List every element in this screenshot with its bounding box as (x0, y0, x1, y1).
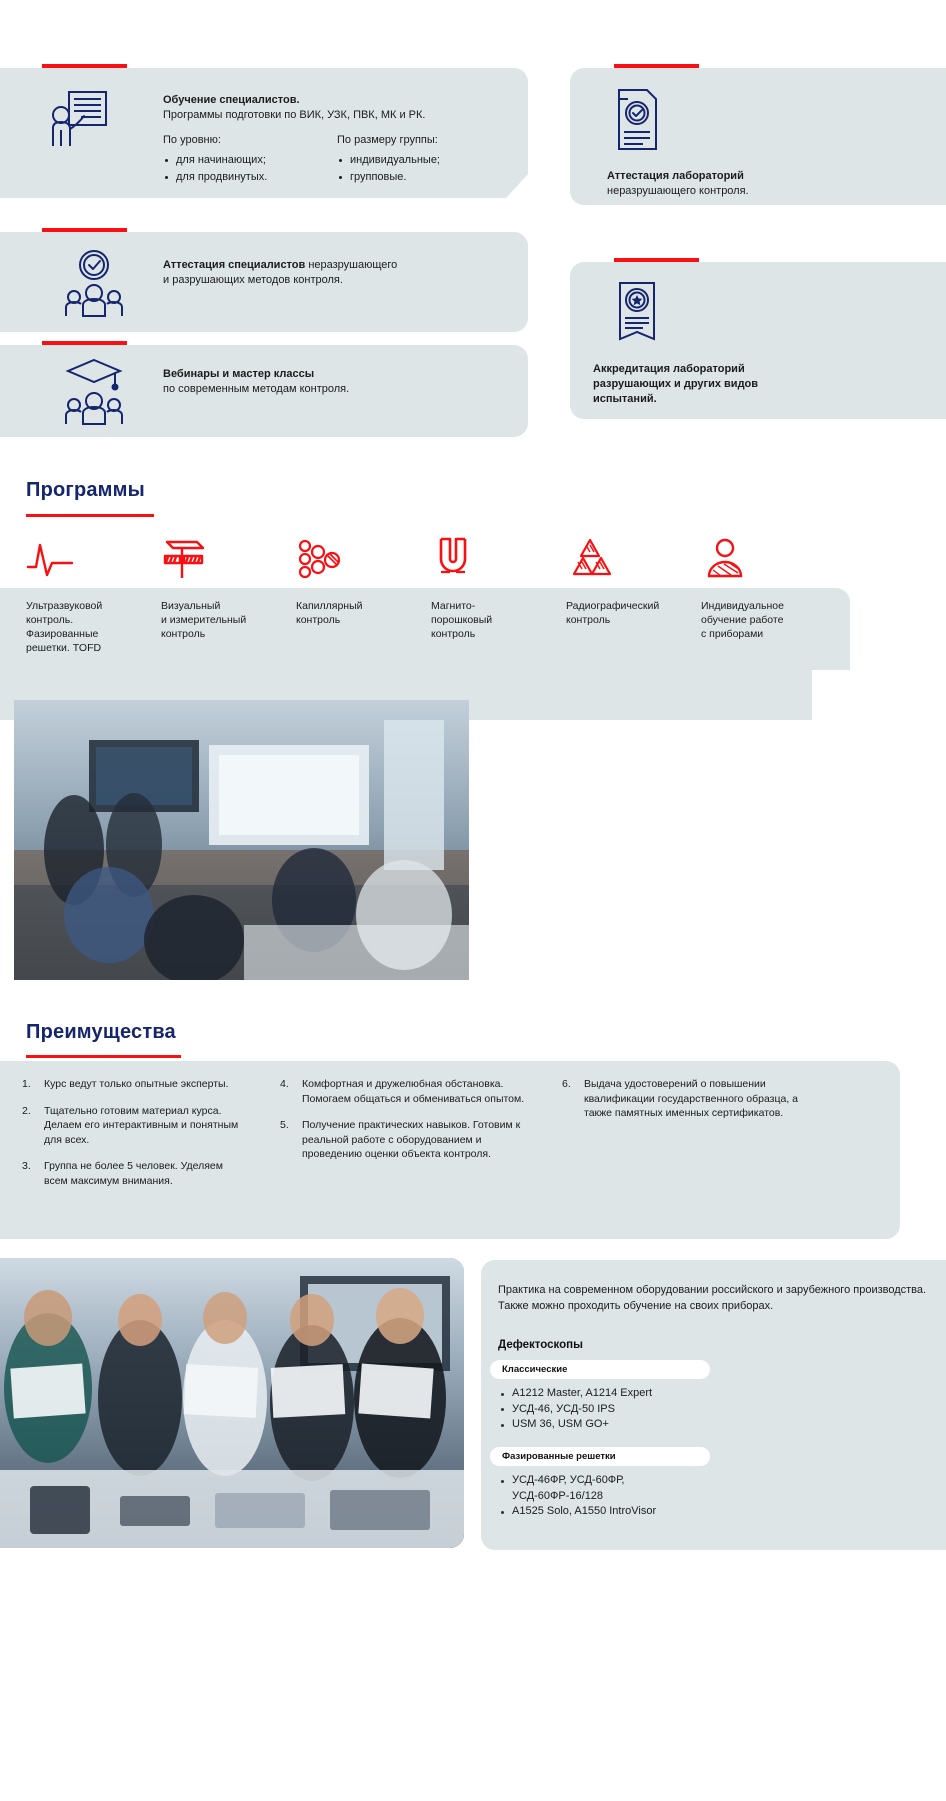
pill-label: Классические (502, 1364, 567, 1375)
advantage-number: 5. (280, 1118, 289, 1133)
advantage-number: 2. (22, 1104, 31, 1119)
accreditation-line3: испытаний. (593, 392, 913, 407)
equipment-intro: Практика на современном оборудовании рос… (498, 1282, 930, 1314)
magnet-icon (431, 536, 553, 585)
document-star-icon (611, 280, 663, 350)
advantage-number: 6. (562, 1077, 571, 1092)
training-title: Обучение специалистов. Программы подгото… (163, 93, 503, 123)
list-item: для начинающих; (163, 152, 267, 169)
advantage-item: 5. Получение практических навыков. Готов… (280, 1118, 525, 1162)
training-level-head: По уровню: (163, 134, 267, 146)
program-item-ultrasound[interactable]: Ультразвуковой контроль. Фазированные ре… (26, 536, 148, 655)
advantage-item: 3. Группа не более 5 человек. Уделяем вс… (22, 1159, 242, 1188)
advantages-heading: Преимущества (26, 1021, 176, 1044)
training-title-line2: Программы подготовки по ВИК, УЗК, ПВК, М… (163, 108, 503, 123)
list-item: для продвинутых. (163, 169, 267, 186)
equipment-title: Дефектоскопы (498, 1339, 583, 1351)
advantage-item: 1. Курс ведут только опытные эксперты. (22, 1077, 242, 1092)
advantage-number: 3. (22, 1159, 31, 1174)
radiation-icon (566, 536, 688, 585)
accent-bar-training (42, 64, 127, 68)
program-item-magnetic[interactable]: Магнито- порошковый контроль (431, 536, 553, 641)
training-by-size: По размеру группы: индивидуальные; групп… (337, 134, 440, 186)
advantage-text: Выдача удостоверений о повышении квалифи… (584, 1078, 798, 1119)
lab-line1: Аттестация лабораторий (607, 169, 907, 184)
attestation-text: Аттестация специалистов неразрушающего и… (163, 258, 493, 288)
training-by-level: По уровню: для начинающих; для продвинут… (163, 134, 267, 186)
webinars-text: Вебинары и мастер классы по современным … (163, 367, 493, 397)
list-item: индивидуальные; (337, 152, 440, 169)
advantages-column-2: 4. Комфортная и дружелюбная обстанов­ка.… (280, 1077, 525, 1174)
program-item-visual[interactable]: Визуальный и измерительный контроль (161, 536, 283, 641)
teacher-board-icon (48, 88, 108, 155)
list-item: USM 36, USM GO+ (498, 1417, 652, 1433)
accreditation-line2: разрушающих и других видов (593, 377, 913, 392)
equipment-list-classic: A1212 Master, A1214 Expert УСД-46, УСД-5… (498, 1386, 652, 1433)
list-item: УСД-46, УСД-50 IPS (498, 1402, 652, 1418)
program-label: Ультразвуковой контроль. Фазированные ре… (26, 599, 148, 655)
training-size-list: индивидуальные; групповые. (337, 152, 440, 186)
advantages-list-2: 4. Комфортная и дружелюбная обстанов­ка.… (280, 1077, 525, 1162)
attestation-title-rest: неразрушающего (305, 259, 397, 271)
advantage-number: 1. (22, 1077, 31, 1092)
attestation-title-bold: Аттестация специалистов (163, 259, 305, 271)
list-item: A1525 Solo, A1550 IntroVisor (498, 1504, 656, 1520)
advantage-item: 2. Тщательно готовим материал курса. Дел… (22, 1104, 242, 1148)
advantage-item: 4. Комфортная и дружелюбная обстанов­ка.… (280, 1077, 525, 1106)
advantage-item: 6. Выдача удостоверений о повышении квал… (562, 1077, 817, 1121)
lab-text: Аттестация лабораторий неразрушающего ко… (607, 169, 907, 199)
webinars-line2: по современным методам контроля. (163, 382, 493, 397)
programs-heading: Программы (26, 479, 145, 502)
graduation-people-icon (63, 356, 125, 433)
program-item-capillary[interactable]: Капиллярный контроль (296, 536, 418, 627)
capillary-dots-icon (296, 536, 418, 585)
program-label: Радиографический контроль (566, 599, 688, 627)
advantages-list-1: 1. Курс ведут только опытные эксперты. 2… (22, 1077, 242, 1188)
advantage-text: Получение практических навыков. Готовим … (302, 1119, 520, 1160)
classroom-photo (14, 700, 469, 980)
ultrasound-wave-icon (26, 536, 148, 585)
webinars-title: Вебинары и мастер классы (163, 367, 493, 382)
lab-line2: неразрушающего контроля. (607, 184, 907, 199)
equipment-list-phased: УСД-46ФР, УСД-60ФР, УСД-60ФР-16/128 A152… (498, 1473, 656, 1520)
document-check-icon (611, 87, 663, 157)
program-label: Магнито- порошковый контроль (431, 599, 553, 641)
training-level-list: для начинающих; для продвинутых. (163, 152, 267, 186)
attestation-line2: и разрушающих методов контроля. (163, 273, 493, 288)
advantages-column-1: 1. Курс ведут только опытные эксперты. 2… (22, 1077, 242, 1200)
training-title-line1: Обучение специалистов. (163, 93, 503, 108)
programs-panel-notch (778, 652, 812, 686)
advantage-text: Группа не более 5 человек. Уделяем всем … (44, 1160, 223, 1187)
advantage-text: Курс ведут только опытные эксперты. (44, 1078, 229, 1090)
training-size-head: По размеру группы: (337, 134, 440, 146)
advantages-heading-underline (26, 1055, 181, 1058)
advantage-text: Тщательно готовим материал курса. Делаем… (44, 1105, 238, 1146)
program-label: Визуальный и измерительный контроль (161, 599, 283, 641)
accreditation-text: Аккредитация лабораторий разрушающих и д… (593, 362, 913, 407)
advantages-list-3: 6. Выдача удостоверений о повышении квал… (562, 1077, 817, 1121)
check-people-icon (63, 248, 125, 325)
page-root: Обучение специалистов. Программы подгото… (0, 0, 946, 1801)
equipment-group-pill-phased[interactable]: Фазированные решетки (490, 1447, 710, 1466)
list-item: групповые. (337, 169, 440, 186)
programs-heading-underline (26, 514, 154, 517)
visual-gauge-icon (161, 536, 283, 585)
program-item-individual[interactable]: Индивидуальное обучение работе с прибора… (701, 536, 823, 641)
equipment-group-pill-classic[interactable]: Классические (490, 1360, 710, 1379)
program-label: Индивидуальное обучение работе с прибора… (701, 599, 823, 641)
program-item-radiography[interactable]: Радиографический контроль (566, 536, 688, 627)
person-device-icon (701, 536, 823, 585)
list-item: A1212 Master, A1214 Expert (498, 1386, 652, 1402)
advantages-column-3: 6. Выдача удостоверений о повышении квал… (562, 1077, 817, 1133)
list-item: УСД-46ФР, УСД-60ФР, УСД-60ФР-16/128 (498, 1473, 656, 1504)
advantage-text: Комфортная и дружелюбная обстанов­ка. По… (302, 1078, 524, 1105)
pill-label: Фазированные решетки (502, 1451, 616, 1462)
program-label: Капиллярный контроль (296, 599, 418, 627)
certificates-photo (0, 1258, 464, 1548)
accreditation-line1: Аккредитация лабораторий (593, 362, 913, 377)
advantage-number: 4. (280, 1077, 289, 1092)
